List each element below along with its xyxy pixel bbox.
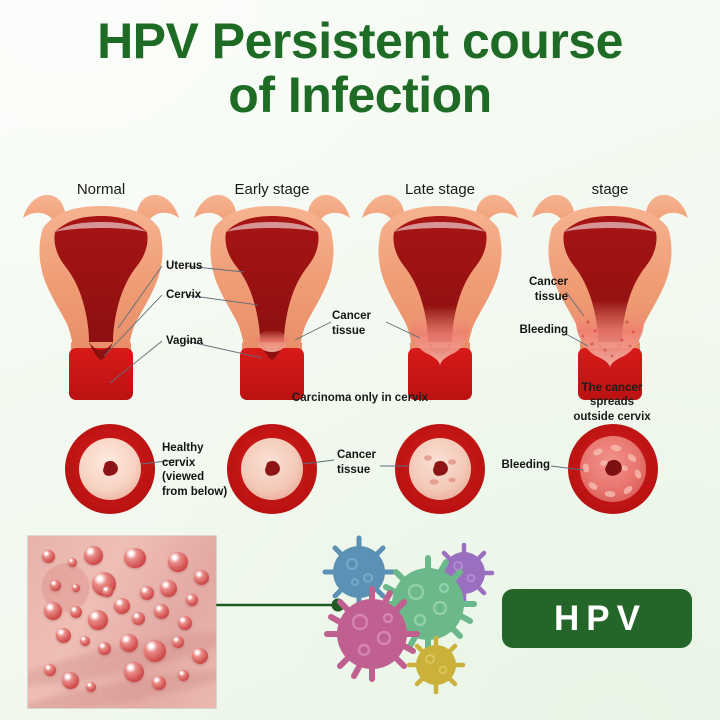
- caption-right: The cancer spreads outside cervix: [558, 381, 666, 424]
- yellow-virus: [409, 638, 463, 692]
- page-title: HPV Persistent course of Infection: [0, 14, 720, 122]
- title-line-2: of Infection: [0, 68, 720, 122]
- hpv-lesion-photo: [28, 536, 216, 708]
- label-cancer-tissue-mid: Cancer tissue: [332, 309, 371, 338]
- caption-middle: Carcinoma only in cervix: [292, 391, 428, 405]
- hpv-badge: HPV: [502, 589, 692, 648]
- stage-label-final: stage: [592, 181, 629, 198]
- stage-label-normal: Normal: [77, 181, 125, 198]
- label-cancer-tissue-circle: Cancer tissue: [337, 448, 376, 477]
- virus-cluster: [325, 538, 492, 692]
- cervix-circle-healthy: [65, 424, 175, 514]
- title-line-1: HPV Persistent course: [0, 14, 720, 68]
- label-uterus: Uterus: [166, 259, 202, 274]
- stage-label-late: Late stage: [405, 181, 475, 198]
- photo-virus-connector: [216, 599, 345, 612]
- label-healthy-cervix: Healthy cervix (viewed from below): [162, 441, 227, 500]
- label-bleeding-circle: Bleeding: [440, 458, 550, 473]
- pink-virus: [327, 589, 417, 679]
- uterus-panel-normal: [23, 195, 179, 400]
- label-cancer-tissue-right: Cancer tissue: [458, 275, 568, 304]
- stage-label-early: Early stage: [234, 181, 309, 198]
- cervix-circle-early: [227, 424, 334, 514]
- label-bleeding-right: Bleeding: [438, 323, 568, 338]
- cervix-circle-bleeding: [551, 424, 658, 514]
- label-cervix: Cervix: [166, 288, 201, 303]
- hpv-badge-text: HPV: [547, 599, 647, 639]
- uterus-panel-early: [186, 195, 350, 400]
- label-vagina: Vagina: [166, 334, 203, 349]
- blue-virus: [325, 538, 393, 606]
